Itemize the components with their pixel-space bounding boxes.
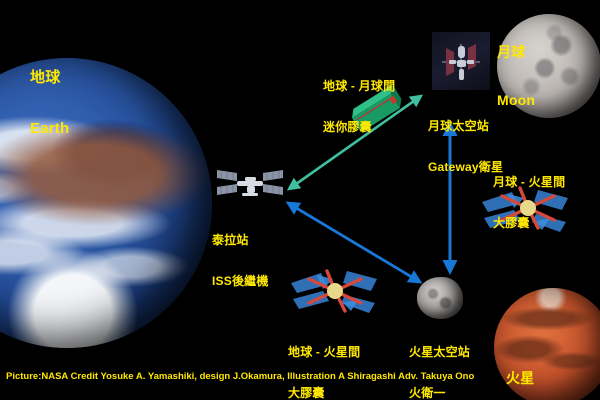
earth-mars-capsule-label: 地球 - 火星間 大膠囊	[288, 318, 360, 400]
moon-mars-capsule-label-ja: 月球 - 火星間	[493, 176, 565, 190]
moon-mars-capsule-label: 月球 - 火星間 大膠囊	[493, 148, 565, 258]
gateway-station-image	[432, 32, 490, 90]
gateway-station-label: 月球太空站 Gateway衛星	[428, 92, 503, 202]
phobos-image	[417, 277, 463, 319]
iss-label-en: ISS後繼機	[212, 275, 269, 289]
earth-label: 地球 Earth	[30, 34, 69, 172]
moon-label-ja: 月球	[497, 44, 535, 60]
mars-label: 火星 Mars	[506, 338, 539, 400]
gateway-label-en: Gateway衛星	[428, 161, 503, 175]
earth-moon-capsule-label-ja: 地球 - 月球間	[323, 80, 395, 94]
iss-station-label: 泰拉站 ISS後繼機	[212, 206, 269, 316]
phobos-label-ja: 火星太空站	[409, 346, 470, 360]
arrow-iss-phobos	[288, 203, 420, 282]
earth-label-ja: 地球	[30, 69, 69, 86]
iss-label-ja: 泰拉站	[212, 234, 269, 248]
gateway-label-ja: 月球太空站	[428, 120, 503, 134]
earth-mars-capsule-label-ja: 地球 - 火星間	[288, 346, 360, 360]
credit-text: Picture:NASA Credit Yosuke A. Yamashiki,…	[6, 371, 474, 382]
iss-station-image	[213, 162, 287, 206]
mars-label-ja: 火星	[506, 370, 539, 386]
iss-icon	[213, 162, 287, 206]
earth-moon-capsule-label-en: 迷你膠囊	[323, 121, 395, 135]
earth-mars-capsule-icon	[291, 271, 377, 313]
phobos-label-en: 火衛一	[409, 387, 470, 400]
moon-mars-capsule-label-en: 大膠囊	[493, 217, 565, 231]
diagram-canvas: 地球 Earth 月球 Moon 火星 Mars 火星太空站 火衛一 泰拉站 I…	[0, 0, 600, 400]
phobos-station-label: 火星太空站 火衛一	[409, 318, 470, 400]
earth-label-en: Earth	[30, 120, 69, 137]
earth-moon-capsule-label: 地球 - 月球間 迷你膠囊	[323, 52, 395, 162]
earth-mars-capsule-label-en: 大膠囊	[288, 387, 360, 400]
gateway-icon	[432, 32, 490, 90]
